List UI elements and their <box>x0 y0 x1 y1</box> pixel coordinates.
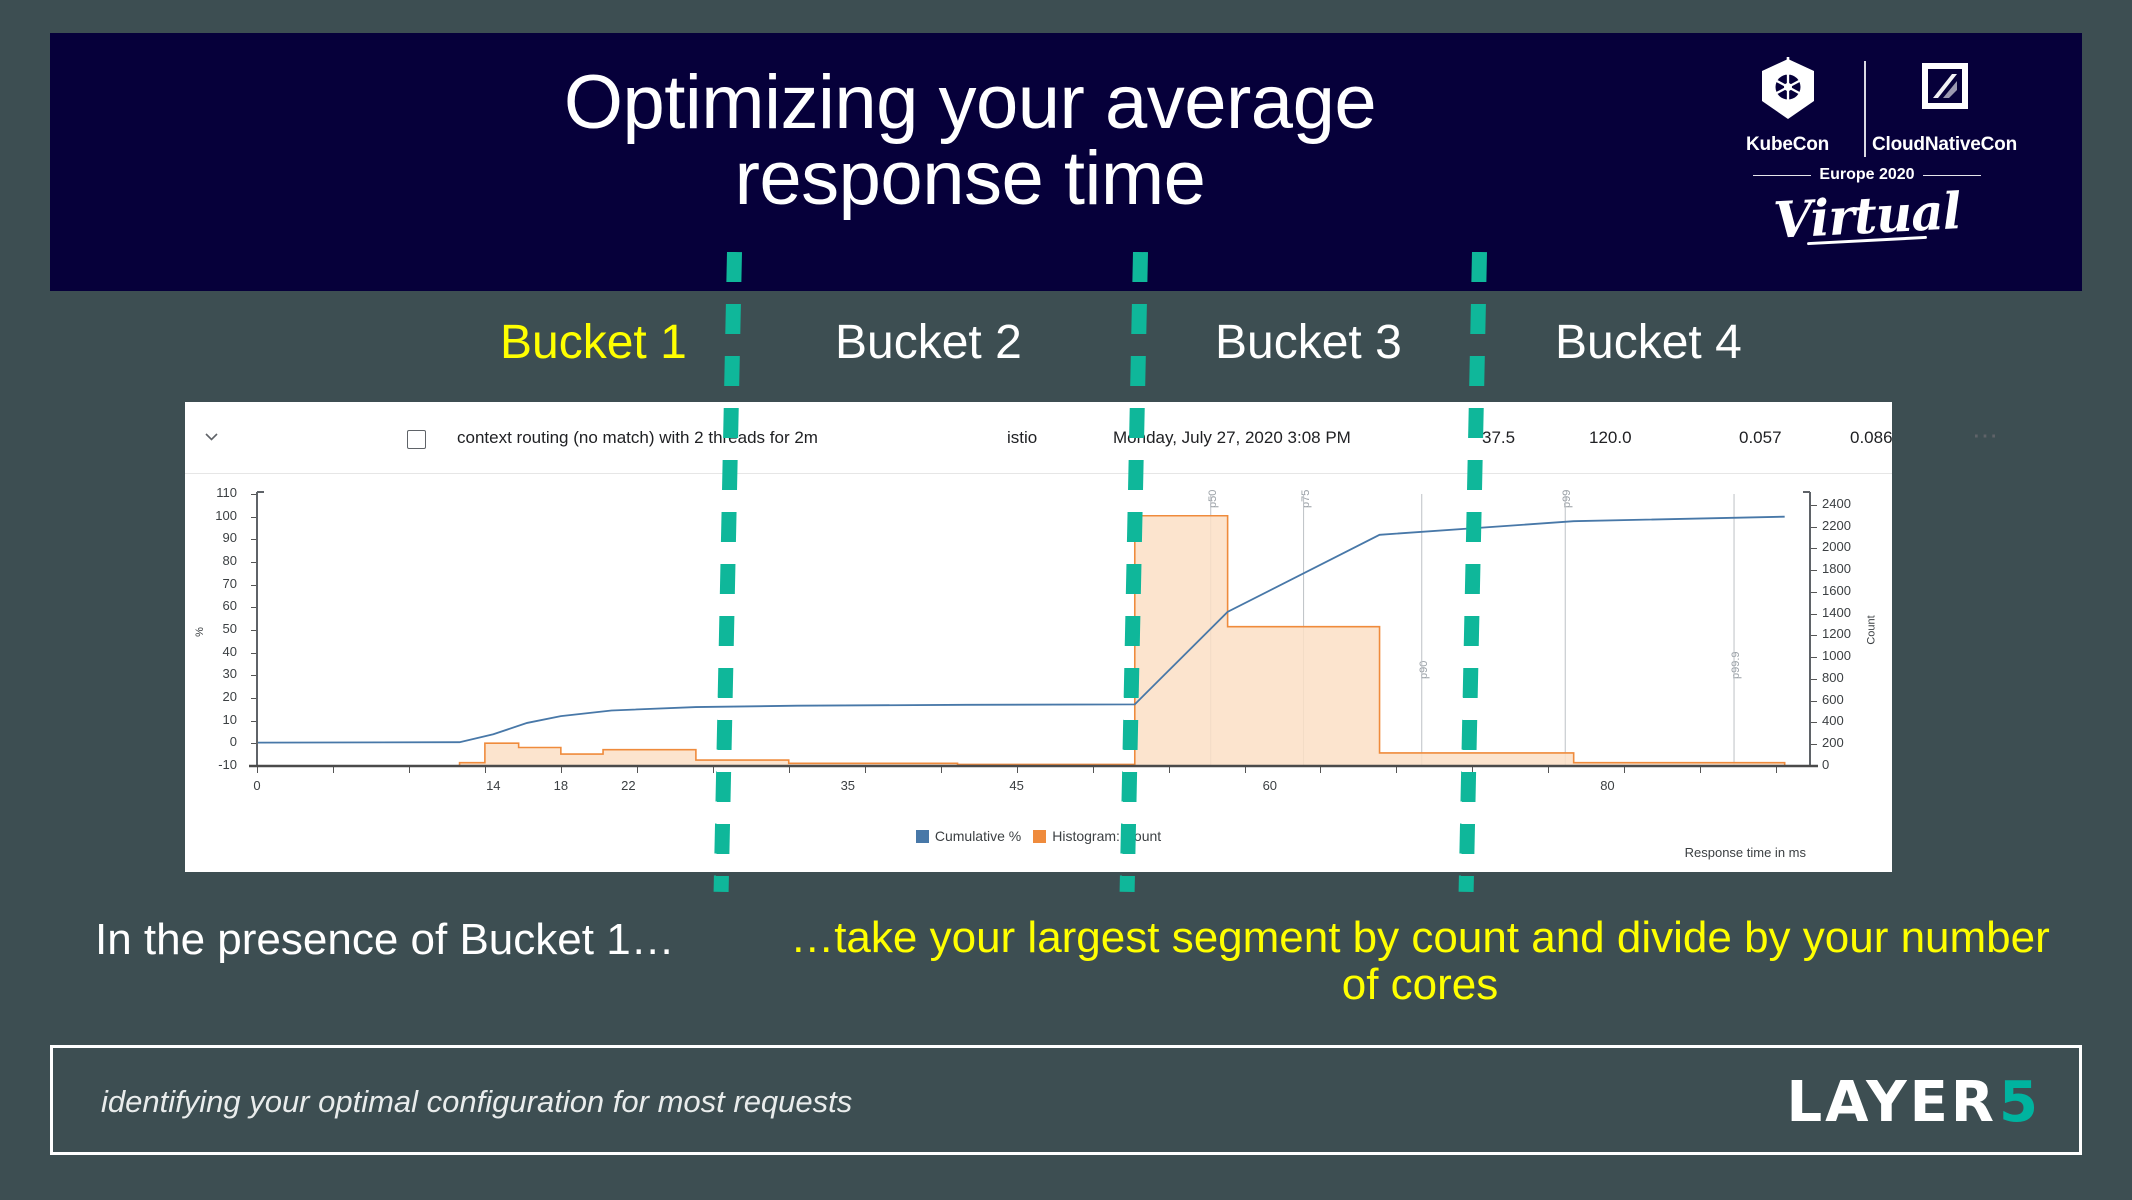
title-banner: Optimizing your average response time <box>50 33 2082 291</box>
edition-rule-left <box>1753 175 1811 176</box>
more-horizontal-icon[interactable]: ⋯ <box>1972 420 2000 451</box>
metric-3: 0.057 <box>1739 428 1782 448</box>
chevron-down-icon[interactable] <box>203 428 220 445</box>
layer5-accent: 5 <box>1999 1070 2041 1135</box>
layer5-wordmark: LAYER <box>1786 1070 1997 1135</box>
metric-1: 37.5 <box>1482 428 1515 448</box>
bucket-label-1: Bucket 1 <box>500 315 687 370</box>
caption-right: …take your largest segment by count and … <box>790 915 2050 1008</box>
slide-root: Optimizing your average response time <box>0 0 2132 1200</box>
metric-4: 0.086 <box>1850 428 1893 448</box>
page-title: Optimizing your average response time <box>260 65 1680 217</box>
legend-swatch-cumulative <box>916 830 929 843</box>
bucket-label-3: Bucket 3 <box>1215 315 1402 370</box>
legend-item-cumulative: Cumulative % <box>916 828 1021 844</box>
timestamp: Monday, July 27, 2020 3:08 PM <box>1113 428 1351 448</box>
caption-left: In the presence of Bucket 1… <box>95 915 675 965</box>
metric-2: 120.0 <box>1589 428 1632 448</box>
logo-row: KubeCon CloudNativeCon <box>1717 57 2017 157</box>
legend-item-histogram: Histogram: Count <box>1033 828 1161 844</box>
edition-rule-right <box>1923 175 1981 176</box>
legend-label-cumulative: Cumulative % <box>935 828 1021 844</box>
test-name: context routing (no match) with 2 thread… <box>457 428 818 448</box>
plot-canvas <box>185 474 1892 872</box>
cloudnativecon-block: CloudNativeCon <box>1872 57 2017 156</box>
test-result-card: context routing (no match) with 2 thread… <box>185 402 1892 872</box>
page-title-line-2: response time <box>260 141 1680 217</box>
cncf-square-icon <box>1914 57 1976 128</box>
service-mesh: istio <box>1007 428 1037 448</box>
page-title-line-1: Optimizing your average <box>260 65 1680 141</box>
result-row[interactable]: context routing (no match) with 2 thread… <box>185 402 1892 474</box>
kubernetes-helm-icon <box>1757 57 1819 128</box>
legend-label-histogram: Histogram: Count <box>1052 828 1161 844</box>
histogram-chart: % Count Response time in ms 110100908070… <box>185 474 1892 872</box>
bucket-label-4: Bucket 4 <box>1555 315 1742 370</box>
legend-swatch-histogram <box>1033 830 1046 843</box>
footer-bar: identifying your optimal configuration f… <box>50 1045 2082 1155</box>
bucket-label-2: Bucket 2 <box>835 315 1022 370</box>
cloudnativecon-label: CloudNativeCon <box>1872 134 2017 156</box>
kubecon-block: KubeCon <box>1717 57 1858 156</box>
row-checkbox[interactable] <box>407 430 426 449</box>
edition-label: Europe 2020 <box>1819 166 1914 184</box>
conference-logo: KubeCon CloudNativeCon <box>1717 57 2017 277</box>
kubecon-label: KubeCon <box>1746 134 1829 156</box>
logo-divider <box>1864 61 1866 157</box>
footer-tagline: identifying your optimal configuration f… <box>101 1084 852 1120</box>
chart-legend: Cumulative % Histogram: Count <box>185 828 1892 844</box>
layer5-logo: LAYER 5 <box>1786 1070 2041 1135</box>
